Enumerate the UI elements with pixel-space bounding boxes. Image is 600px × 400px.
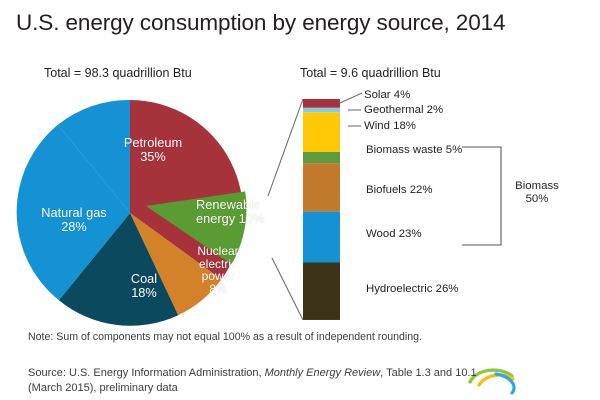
bar-label-solar: Solar 4% <box>364 89 410 101</box>
pie-label-natural-gas: Natural gas 28% <box>26 206 122 235</box>
biomass-group-name: Biomass <box>515 180 559 192</box>
pie-label-renewable-pct: energy 10% <box>196 211 264 226</box>
bar-segment-biomass-waste[interactable] <box>303 152 340 163</box>
pie-label-petroleum-pct: 35% <box>140 149 166 164</box>
source-publication: Monthly Energy Review <box>265 367 381 379</box>
chart-note: Note: Sum of components may not equal 10… <box>28 331 458 345</box>
renewable-stacked-bar <box>303 99 340 320</box>
bar-segment-hydroelectric[interactable] <box>303 263 340 320</box>
pie-label-coal-name: Coal <box>131 271 157 286</box>
pie-label-nuclear: Nuclearelectricpower 8% <box>192 245 244 295</box>
bar-label-geothermal: Geothermal 2% <box>364 104 443 116</box>
source-prefix: Source: U.S. Energy Information Administ… <box>28 367 265 379</box>
pie-label-petroleum: Petroleum 35% <box>108 136 198 165</box>
bar-label-wind: Wind 18% <box>364 120 416 132</box>
pie-label-coal-pct: 18% <box>131 285 157 300</box>
chart-source: Source: U.S. Energy Information Administ… <box>28 366 478 396</box>
bar-segment-wood[interactable] <box>303 212 340 263</box>
bar-label-hydroelectric: Hydroelectric 26% <box>366 283 458 295</box>
bar-segment-geothermal[interactable] <box>303 108 340 112</box>
pie-label-nuclear-name: Nuclearelectricpower <box>197 244 238 283</box>
pie-label-petroleum-name: Petroleum <box>124 135 182 150</box>
pie-label-natural-gas-pct: 28% <box>61 219 87 234</box>
pie-label-renewable: Renewable energy 10% <box>196 198 292 227</box>
bar-segment-wind[interactable] <box>303 112 340 152</box>
pie-label-natural-gas-name: Natural gas <box>41 205 106 220</box>
bar-label-wood: Wood 23% <box>366 228 422 240</box>
pie-label-nuclear-pct: 8% <box>209 282 226 296</box>
bar-segment-solar[interactable] <box>303 99 340 108</box>
bar-label-biofuels: Biofuels 22% <box>366 184 433 196</box>
biomass-bracket <box>462 147 501 245</box>
bar-leader-lines <box>340 93 362 126</box>
pie-label-coal: Coal 18% <box>118 272 170 301</box>
bar-segment-biofuels[interactable] <box>303 163 340 212</box>
bar-label-biomass-group: Biomass 50% <box>506 180 568 206</box>
pie-label-renewable-name: Renewable <box>196 197 260 212</box>
bar-label-biomass-waste: Biomass waste 5% <box>366 144 462 156</box>
biomass-group-pct: 50% <box>526 193 549 205</box>
